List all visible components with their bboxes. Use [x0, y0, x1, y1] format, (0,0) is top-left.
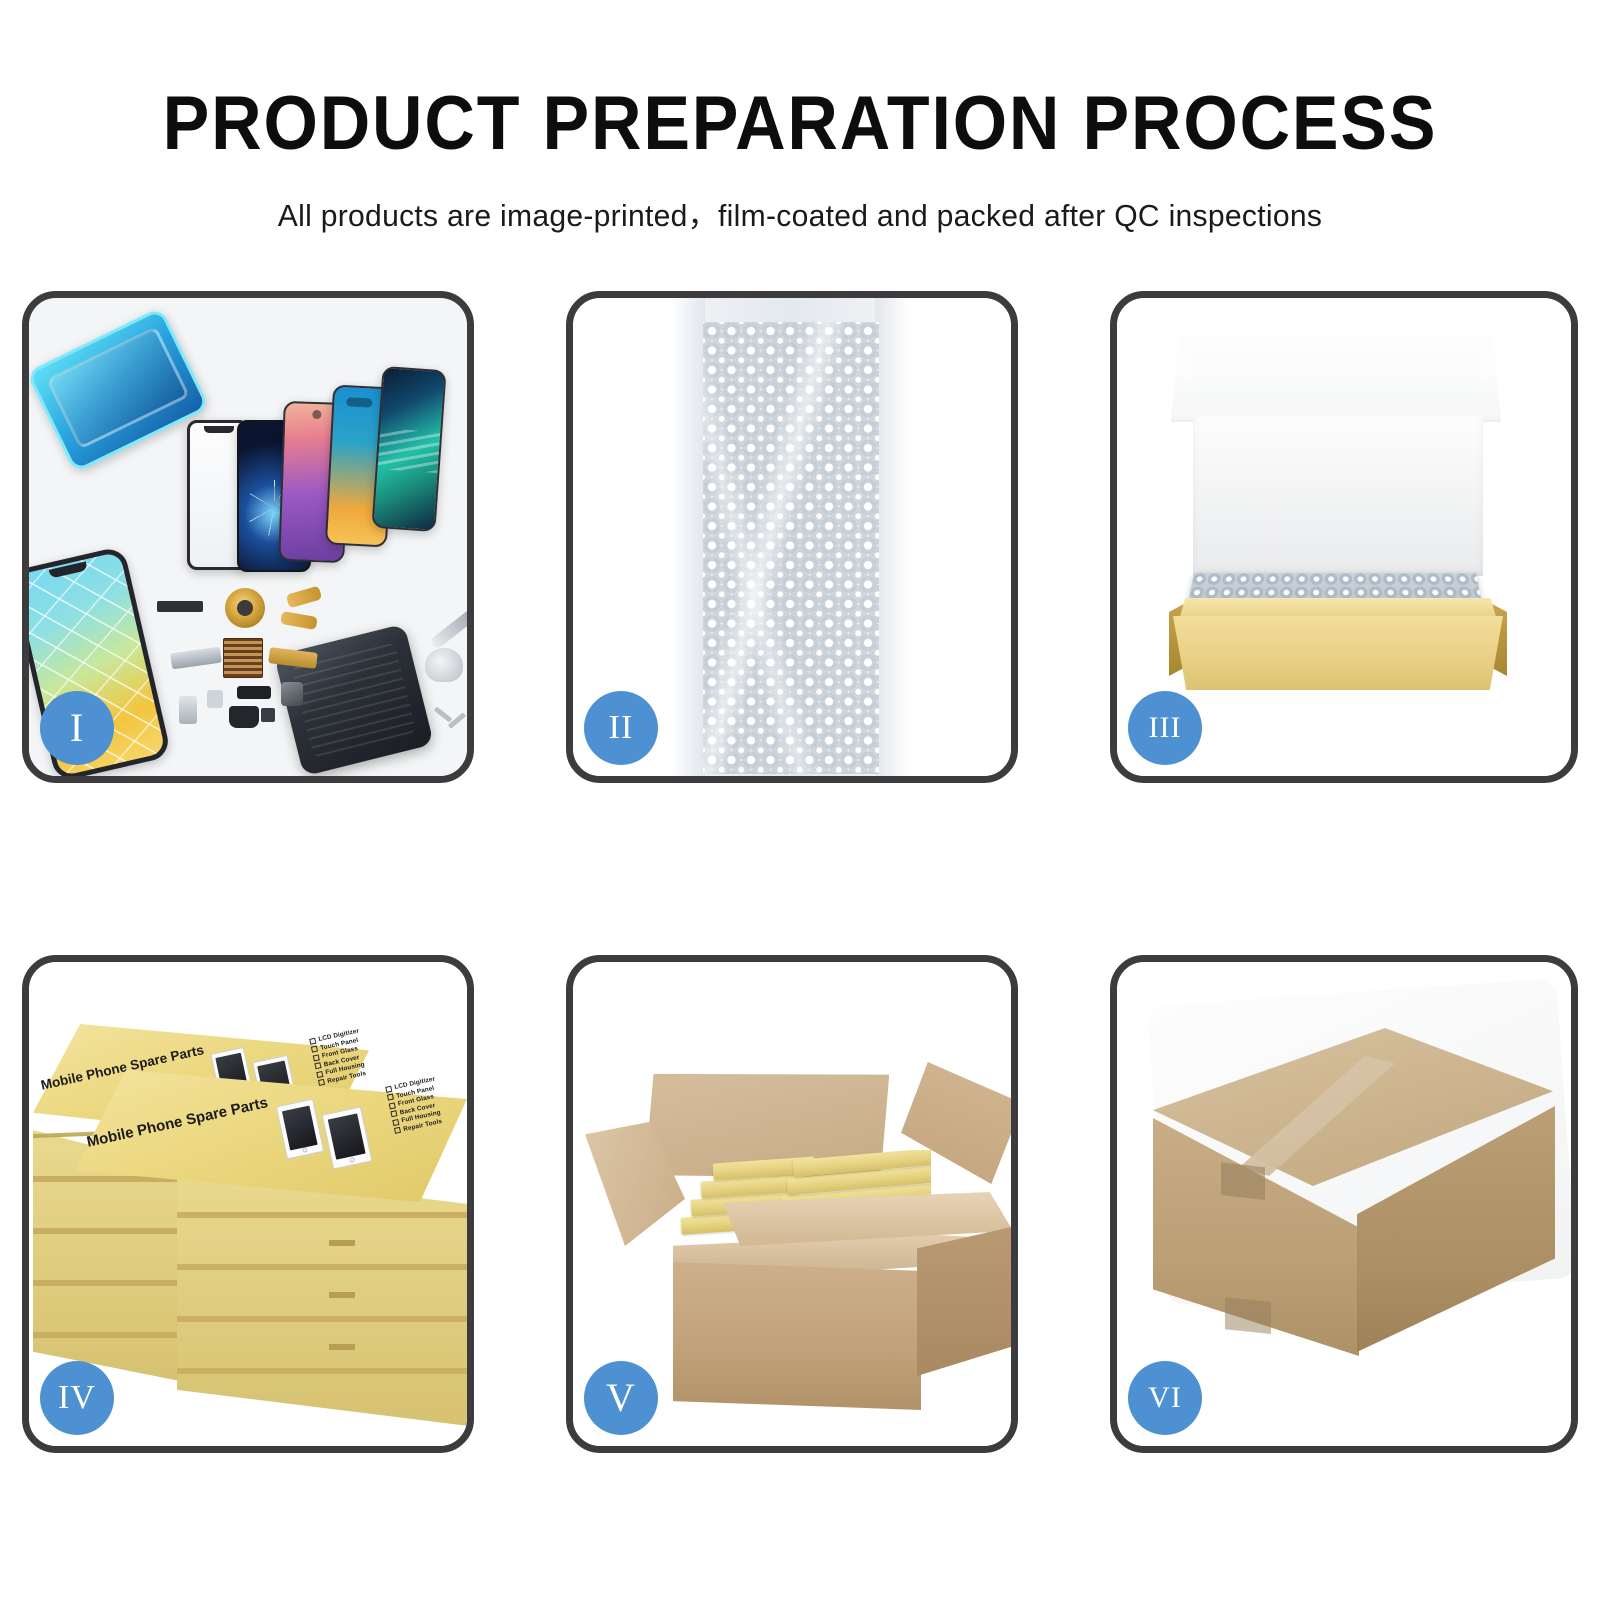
step-badge-5: V — [584, 1361, 658, 1435]
process-step-panel-2[interactable]: II — [566, 291, 1018, 783]
small-part-icon — [261, 708, 275, 722]
small-part-icon — [207, 690, 223, 708]
checkbox-icon — [316, 1070, 323, 1077]
retail-box-checklist-back: LCD Digitizer Touch Panel Front Glass Ba… — [309, 1028, 369, 1088]
retail-box-checklist-front: LCD Digitizer Touch Panel Front Glass Ba… — [385, 1076, 445, 1136]
checkbox-icon — [318, 1079, 325, 1086]
earpiece-speaker-icon — [157, 601, 203, 612]
checkbox-icon — [392, 1118, 399, 1125]
ic-chip-icon — [223, 638, 263, 678]
box-tab — [329, 1240, 355, 1246]
carton-side-panel — [917, 1224, 1011, 1376]
retail-box-seam — [177, 1368, 467, 1374]
retail-box-seam — [177, 1316, 467, 1322]
adhesive-frame-icon — [29, 307, 210, 473]
ribbon-cable-icon — [170, 647, 222, 670]
teal-display-icon — [371, 366, 446, 532]
retail-box-stack-right — [177, 1168, 467, 1426]
process-step-panel-5[interactable]: V — [566, 955, 1018, 1453]
carton-front-panel — [673, 1262, 921, 1410]
checkbox-icon — [314, 1062, 321, 1069]
retail-box-seam — [33, 1332, 185, 1338]
sim-tray-icon — [179, 696, 197, 724]
step-badge-1: I — [40, 691, 114, 765]
step-badge-3: III — [1128, 691, 1202, 765]
retail-box-seam — [177, 1264, 467, 1270]
box-tab — [329, 1292, 355, 1298]
mailer-lid-icon — [1171, 316, 1501, 422]
box-tab — [329, 1344, 355, 1350]
checkbox-icon — [313, 1054, 320, 1061]
wireless-coil-icon — [225, 588, 265, 628]
mailer-front-panel — [1173, 616, 1503, 690]
mailer-interior — [1193, 416, 1483, 576]
screwdriver-icon — [434, 706, 453, 722]
checkbox-icon — [309, 1037, 316, 1044]
process-step-panel-6[interactable]: VI — [1110, 955, 1578, 1453]
checkbox-icon — [311, 1046, 318, 1053]
step-badge-4: IV — [40, 1361, 114, 1435]
wrap-film-edge-right — [875, 298, 909, 776]
checkbox-icon — [389, 1102, 396, 1109]
retail-box-seam — [177, 1212, 467, 1218]
checkbox-icon — [390, 1110, 397, 1117]
retail-box-seam — [33, 1228, 185, 1234]
camera-module-icon — [281, 682, 303, 706]
loudspeaker-icon — [229, 706, 259, 728]
process-step-panel-1[interactable]: I — [22, 291, 474, 783]
battery-connector-icon — [237, 686, 271, 699]
pry-tool-icon — [429, 606, 467, 650]
checkbox-icon — [385, 1085, 392, 1092]
flex-cable-icon — [286, 586, 323, 609]
wrap-film-edge-left — [671, 298, 705, 776]
checkbox-icon — [394, 1127, 401, 1134]
process-step-grid: I II — [0, 0, 1600, 1600]
step-badge-6: VI — [1128, 1361, 1202, 1435]
retail-box-seam — [33, 1280, 185, 1286]
process-step-panel-4[interactable]: Mobile Phone Spare Parts LCD Digitizer T… — [22, 955, 474, 1453]
flex-cable-icon — [280, 611, 318, 630]
product-preparation-process-page: PRODUCT PREPARATION PROCESS All products… — [0, 0, 1600, 1600]
cleaning-brush-icon — [425, 648, 463, 682]
checkbox-icon — [387, 1094, 394, 1101]
bubble-wrap-icon — [703, 322, 879, 774]
process-step-panel-3[interactable]: III — [1110, 291, 1578, 783]
step-badge-2: II — [584, 691, 658, 765]
